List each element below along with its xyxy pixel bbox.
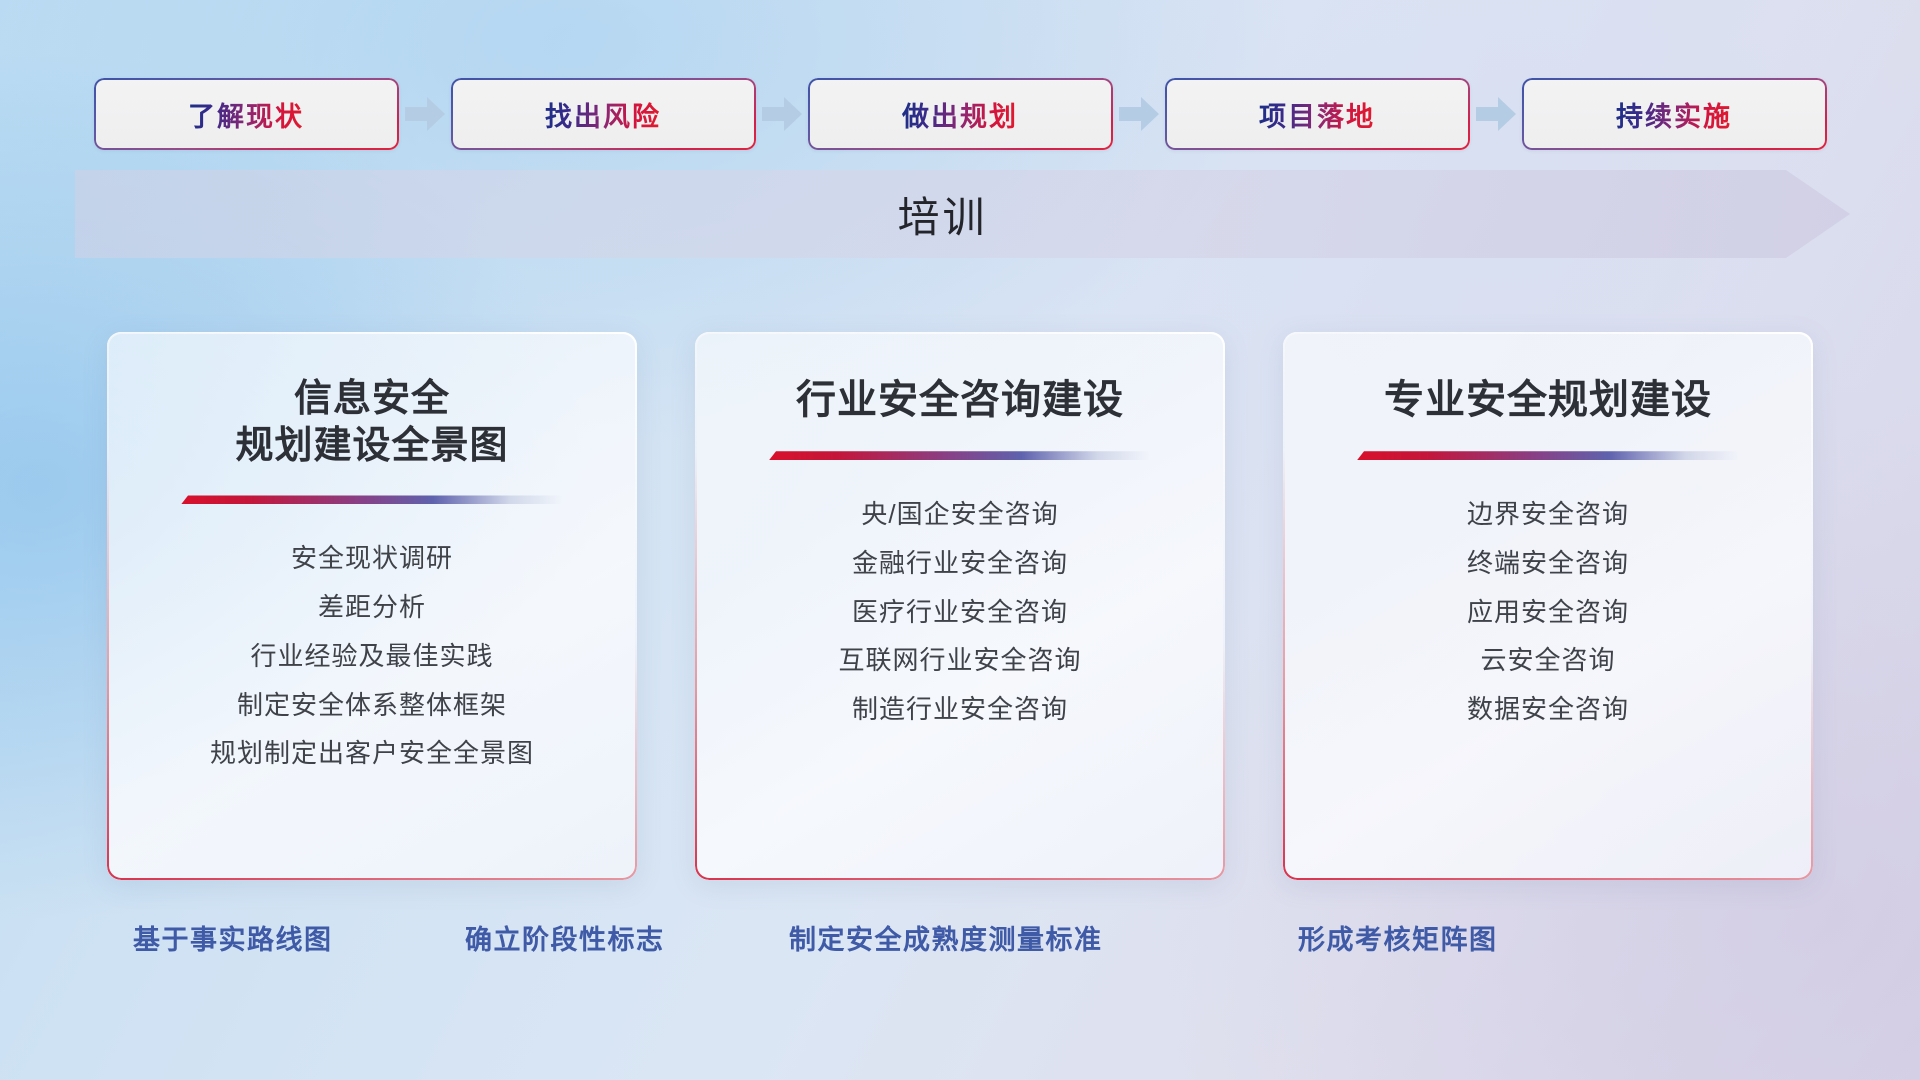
card-title: 行业安全咨询建设	[796, 376, 1124, 425]
list-item: 差距分析	[318, 589, 426, 627]
list-item: 制定安全体系整体框架	[237, 687, 507, 725]
card-title-line-1: 行业安全咨询建设	[796, 376, 1124, 425]
list-item: 云安全咨询	[1480, 642, 1615, 680]
list-item: 数据安全咨询	[1467, 691, 1629, 729]
card-item-list: 边界安全咨询终端安全咨询应用安全咨询云安全咨询数据安全咨询	[1467, 496, 1629, 728]
process-step-1[interactable]: 了解现状	[94, 78, 399, 150]
list-item: 边界安全咨询	[1467, 496, 1629, 534]
process-step-4[interactable]: 项目落地	[1165, 78, 1470, 150]
list-item: 行业经验及最佳实践	[250, 638, 493, 676]
card-title-line-1: 专业安全规划建设	[1384, 376, 1712, 425]
card-title-line-2: 规划建设全景图	[235, 423, 508, 470]
bottom-label-3: 制定安全成熟度测量标准	[789, 918, 1103, 957]
list-item: 金融行业安全咨询	[852, 545, 1068, 583]
list-item: 医疗行业安全咨询	[852, 594, 1068, 632]
card-title: 信息安全规划建设全景图	[235, 376, 508, 469]
process-step-row: 了解现状找出风险做出规划项目落地持续实施	[0, 78, 1920, 150]
list-item: 规划制定出客户安全全景图	[210, 735, 534, 773]
card-body: 行业安全咨询建设央/国企安全咨询金融行业安全咨询医疗行业安全咨询互联网行业安全咨…	[695, 332, 1225, 880]
process-step-label: 做出规划	[902, 95, 1018, 134]
list-item: 央/国企安全咨询	[861, 496, 1058, 534]
content-card-3[interactable]: 专业安全规划建设边界安全咨询终端安全咨询应用安全咨询云安全咨询数据安全咨询	[1283, 332, 1813, 880]
training-banner: 培训	[75, 170, 1850, 258]
process-step-label: 了解现状	[188, 95, 304, 134]
banner-title: 培训	[75, 170, 1850, 258]
card-title-line-1: 信息安全	[235, 376, 508, 423]
bottom-label-row: 基于事实路线图确立阶段性标志制定安全成熟度测量标准形成考核矩阵图	[0, 918, 1920, 972]
card-item-list: 安全现状调研差距分析行业经验及最佳实践制定安全体系整体框架规划制定出客户安全全景…	[210, 540, 534, 772]
process-step-label: 项目落地	[1259, 95, 1375, 134]
arrow-right-icon	[756, 78, 808, 150]
arrow-right-icon	[399, 78, 451, 150]
slide-canvas: 了解现状找出风险做出规划项目落地持续实施 培训 信息安全规划建设全景图安全现状调…	[0, 0, 1920, 1080]
card-body: 信息安全规划建设全景图安全现状调研差距分析行业经验及最佳实践制定安全体系整体框架…	[107, 332, 637, 880]
process-step-5[interactable]: 持续实施	[1522, 78, 1827, 150]
card-row: 信息安全规划建设全景图安全现状调研差距分析行业经验及最佳实践制定安全体系整体框架…	[0, 332, 1920, 892]
list-item: 安全现状调研	[291, 540, 453, 578]
bottom-label-1: 基于事实路线图	[133, 918, 333, 957]
bottom-label-2: 确立阶段性标志	[465, 918, 665, 957]
process-step-label: 持续实施	[1616, 95, 1732, 134]
card-divider	[769, 451, 1151, 460]
process-step-3[interactable]: 做出规划	[808, 78, 1113, 150]
bottom-label-4: 形成考核矩阵图	[1298, 918, 1498, 957]
list-item: 终端安全咨询	[1467, 545, 1629, 583]
card-title: 专业安全规划建设	[1384, 376, 1712, 425]
card-divider	[1357, 451, 1739, 460]
content-card-1[interactable]: 信息安全规划建设全景图安全现状调研差距分析行业经验及最佳实践制定安全体系整体框架…	[107, 332, 637, 880]
arrow-right-icon	[1113, 78, 1165, 150]
list-item: 互联网行业安全咨询	[838, 642, 1081, 680]
card-item-list: 央/国企安全咨询金融行业安全咨询医疗行业安全咨询互联网行业安全咨询制造行业安全咨…	[838, 496, 1081, 728]
list-item: 应用安全咨询	[1467, 594, 1629, 632]
card-divider	[181, 495, 563, 504]
arrow-right-icon	[1470, 78, 1522, 150]
process-step-2[interactable]: 找出风险	[451, 78, 756, 150]
card-body: 专业安全规划建设边界安全咨询终端安全咨询应用安全咨询云安全咨询数据安全咨询	[1283, 332, 1813, 880]
process-step-label: 找出风险	[545, 95, 661, 134]
list-item: 制造行业安全咨询	[852, 691, 1068, 729]
content-card-2[interactable]: 行业安全咨询建设央/国企安全咨询金融行业安全咨询医疗行业安全咨询互联网行业安全咨…	[695, 332, 1225, 880]
